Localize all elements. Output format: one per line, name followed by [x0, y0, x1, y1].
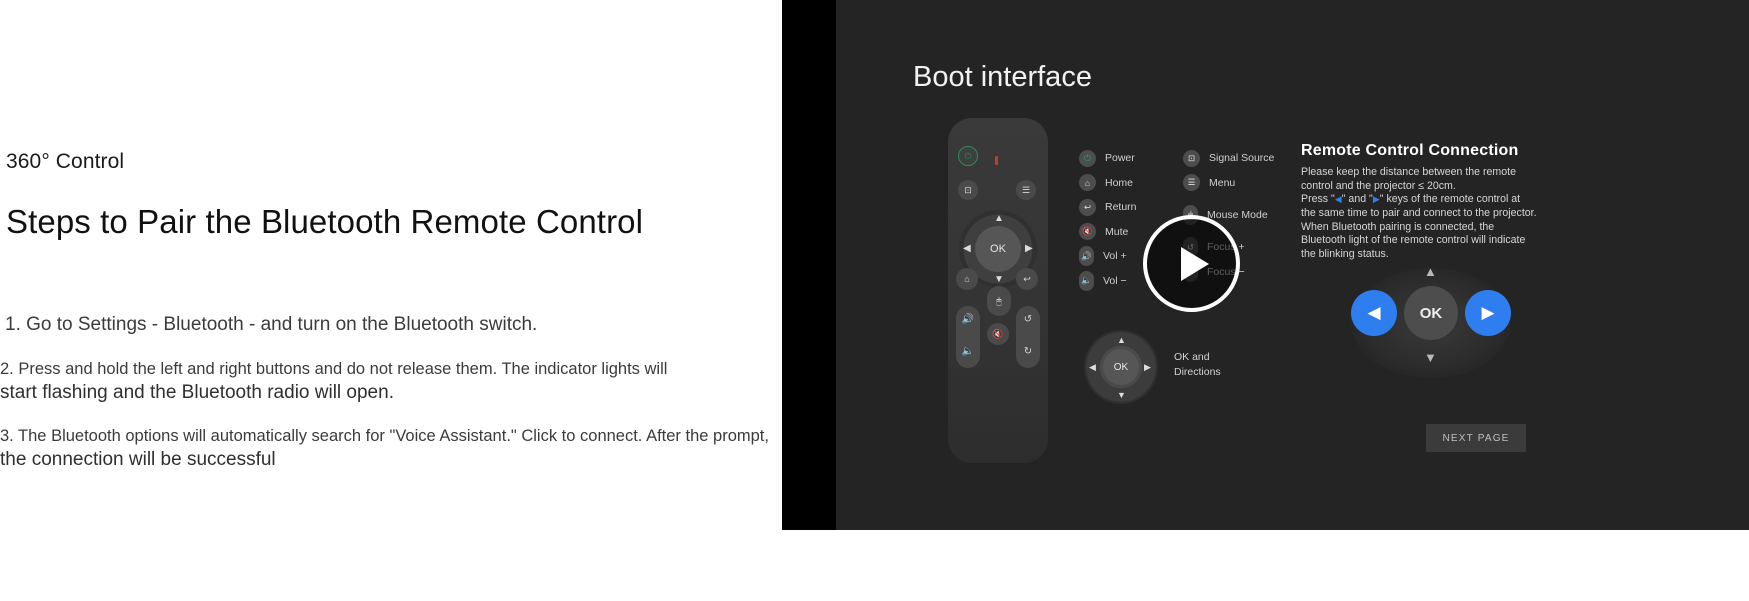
step-text-line: the connection will be successful: [0, 447, 800, 474]
remote-control-illustration: ⏻ ⊡ ☰ ▲ ▼ ◀ ▶ OK ⌂ ↩ 🖱 🔊 🔈 ↺ ↻: [948, 118, 1048, 463]
steps-list: 1. Go to Settings - Bluetooth - and turn…: [0, 312, 800, 487]
signal-source-icon: ⊡: [1183, 150, 1200, 167]
legend-item-mute: 🔇 Mute: [1079, 220, 1137, 245]
legend-label: Home: [1105, 177, 1133, 189]
info-line: control and the projector ≤ 20cm.: [1301, 180, 1456, 192]
step-text-line: 3. The Bluetooth options will automatica…: [0, 425, 800, 447]
ok-button-icon: OK: [1404, 286, 1458, 340]
info-line: Please keep the distance between the rem…: [1301, 166, 1516, 178]
step-text-line: start flashing and the Bluetooth radio w…: [0, 380, 800, 407]
legend-item-menu: ☰ Menu: [1183, 171, 1274, 196]
focus-plus-icon: ↺: [1024, 314, 1032, 325]
mouse-mode-icon: 🖱: [987, 286, 1011, 316]
info-line: the same time to pair and connect to the…: [1301, 207, 1537, 219]
video-frame[interactable]: Boot interface ⏻ ⊡ ☰ ▲ ▼ ◀ ▶ OK ⌂ ↩ 🖱 🔊 …: [836, 0, 1749, 530]
indicator-led: [995, 156, 998, 165]
legend-label: Power: [1105, 152, 1135, 164]
legend-label: Vol −: [1103, 275, 1127, 287]
right-key-highlight-icon: ▶: [1465, 290, 1511, 336]
page-root: 360° Control Steps to Pair the Bluetooth…: [0, 0, 1749, 601]
volume-up-icon: 🔊: [1079, 246, 1094, 266]
legend-item-volume-up: 🔊 Vol +: [1079, 244, 1137, 269]
video-bottom-bar: [782, 530, 1749, 601]
volume-rocker-icon: 🔊 🔈: [956, 306, 980, 368]
article-pane: 360° Control Steps to Pair the Bluetooth…: [0, 0, 872, 601]
legend-item-return: ↩ Return: [1079, 195, 1137, 220]
info-line: Press ": [1301, 193, 1335, 205]
mute-icon: 🔇: [987, 323, 1009, 345]
info-line: the blinking status.: [1301, 248, 1389, 260]
volume-up-icon: 🔊: [962, 314, 974, 325]
list-item: 2. Press and hold the left and right but…: [0, 358, 800, 407]
volume-down-icon: 🔈: [1079, 271, 1094, 291]
legend-label: Mute: [1105, 226, 1128, 238]
home-icon: ⌂: [1079, 174, 1096, 191]
legend-label: Vol +: [1103, 250, 1127, 262]
next-page-button[interactable]: NEXT PAGE: [1426, 424, 1526, 452]
focus-minus-icon: ↻: [1024, 346, 1032, 357]
caption-line: OK and: [1174, 351, 1210, 363]
info-line: " and ": [1342, 193, 1373, 205]
info-heading: Remote Control Connection: [1301, 142, 1596, 160]
remote-connection-info: Remote Control Connection Please keep th…: [1301, 142, 1596, 262]
pairing-dpad-illustration: ▲ ◀ OK ▶ ▼: [1351, 268, 1511, 378]
volume-down-icon: 🔈: [962, 346, 974, 357]
legend-label: Return: [1105, 201, 1137, 213]
info-body: Please keep the distance between the rem…: [1301, 166, 1596, 262]
focus-rocker-icon: ↺ ↻: [1016, 306, 1040, 368]
return-icon: ↩: [1016, 268, 1038, 290]
legend-label: Signal Source: [1209, 152, 1274, 164]
left-arrow-icon: ◀: [1335, 194, 1342, 204]
ok-button-icon: OK: [1103, 349, 1139, 385]
step-text-line: 2. Press and hold the left and right but…: [0, 358, 800, 380]
menu-icon: ☰: [1183, 174, 1200, 191]
right-arrow-icon: ▶: [1144, 362, 1151, 373]
legend-item-power: ⏻ Power: [1079, 146, 1137, 171]
info-line: " keys of the remote control at: [1380, 193, 1520, 205]
info-line: When Bluetooth pairing is connected, the: [1301, 221, 1494, 233]
menu-icon: ☰: [1016, 180, 1036, 200]
legend-column-left: ⏻ Power ⌂ Home ↩ Return 🔇 Mute: [1079, 146, 1137, 293]
legend-label: Menu: [1209, 177, 1235, 189]
home-icon: ⌂: [956, 268, 978, 290]
left-arrow-icon: ◀: [1089, 362, 1096, 373]
list-item: 1. Go to Settings - Bluetooth - and turn…: [0, 312, 800, 338]
video-pane[interactable]: Boot interface ⏻ ⊡ ☰ ▲ ▼ ◀ ▶ OK ⌂ ↩ 🖱 🔊 …: [782, 0, 1749, 601]
power-icon: ⏻: [1079, 150, 1096, 167]
legend-item-home: ⌂ Home: [1079, 171, 1137, 196]
down-arrow-icon: ▼: [994, 275, 1004, 285]
eyebrow-text: 360° Control: [6, 150, 124, 174]
legend-item-signal-source: ⊡ Signal Source: [1183, 146, 1274, 171]
ok-button-icon: OK: [975, 226, 1021, 272]
up-arrow-icon: ▲: [994, 214, 1004, 224]
step-text-line: 1. Go to Settings - Bluetooth - and turn…: [5, 312, 800, 338]
legend-item-volume-down: 🔈 Vol −: [1079, 269, 1137, 294]
down-arrow-icon: ▼: [1117, 390, 1126, 400]
signal-source-icon: ⊡: [958, 180, 978, 200]
left-key-highlight-icon: ◀: [1351, 290, 1397, 336]
play-button[interactable]: [1143, 215, 1240, 312]
up-arrow-icon: ▲: [1117, 335, 1126, 345]
ok-directions-caption: OK and Directions: [1174, 350, 1221, 379]
right-arrow-icon: ▶: [1373, 194, 1380, 204]
power-icon: ⏻: [958, 146, 978, 166]
slide-title: Boot interface: [913, 61, 1092, 94]
right-arrow-icon: ▶: [1025, 244, 1033, 254]
down-arrow-icon: ▼: [1424, 350, 1437, 365]
list-item: 3. The Bluetooth options will automatica…: [0, 425, 800, 474]
page-title: Steps to Pair the Bluetooth Remote Contr…: [6, 203, 643, 241]
caption-line: Directions: [1174, 366, 1221, 378]
legend-label: Mouse Mode: [1207, 209, 1268, 221]
play-icon: [1181, 247, 1209, 281]
return-icon: ↩: [1079, 199, 1096, 216]
info-line: Bluetooth light of the remote control wi…: [1301, 234, 1525, 246]
mute-icon: 🔇: [1079, 223, 1096, 240]
left-arrow-icon: ◀: [963, 244, 971, 254]
up-arrow-icon: ▲: [1424, 264, 1437, 279]
